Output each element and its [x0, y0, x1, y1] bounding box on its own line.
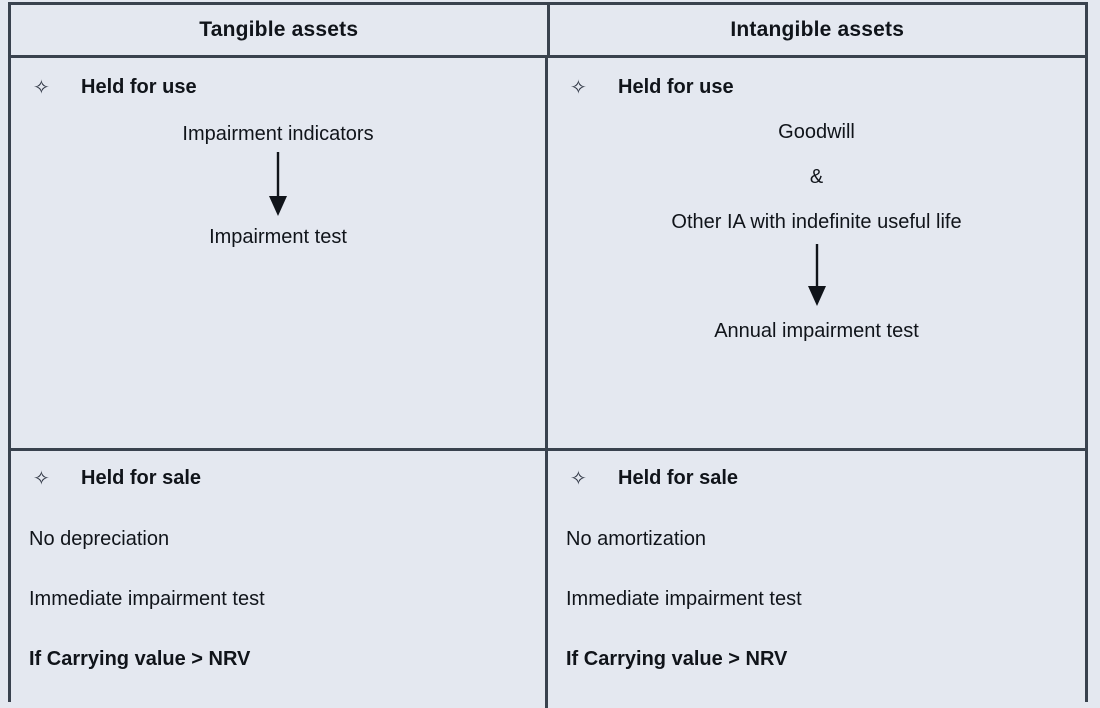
- tangible-impairment-flow: Impairment indicators Impairment test: [11, 99, 545, 249]
- held-for-sale-heading-intangible: ✧ Held for sale: [548, 451, 1085, 490]
- flow-connector-ampersand: &: [548, 166, 1085, 189]
- held-for-sale-label: Held for sale: [81, 467, 201, 490]
- flow-node-goodwill: Goodwill: [548, 121, 1085, 144]
- list-item-no-depreciation: No depreciation: [29, 528, 545, 550]
- list-item-immediate-impairment-test: Immediate impairment test: [29, 588, 545, 610]
- list-item-carrying-value-condition: If Carrying value > NRV: [566, 648, 1085, 670]
- cell-tangible-held-for-use: ✧ Held for use Impairment indicators Imp…: [11, 58, 548, 448]
- down-arrow-icon: [265, 152, 291, 218]
- column-header-intangible-assets: Intangible assets: [550, 5, 1086, 55]
- intangible-impairment-flow: Goodwill & Other IA with indefinite usef…: [548, 99, 1085, 343]
- held-for-use-label: Held for use: [81, 76, 197, 99]
- down-arrow-icon: [804, 244, 830, 308]
- diamond-bullet-icon: ✧: [33, 78, 55, 98]
- held-for-sale-heading-tangible: ✧ Held for sale: [11, 451, 545, 490]
- diamond-bullet-icon: ✧: [570, 469, 592, 489]
- column-header-tangible-assets: Tangible assets: [11, 5, 550, 55]
- cell-intangible-held-for-use: ✧ Held for use Goodwill & Other IA with …: [548, 58, 1085, 448]
- held-for-use-heading-intangible: ✧ Held for use: [548, 58, 1085, 99]
- held-for-sale-row: ✧ Held for sale No depreciation Immediat…: [11, 451, 1085, 708]
- held-for-sale-label: Held for sale: [618, 467, 738, 490]
- assets-impairment-comparison-table: Tangible assets Intangible assets ✧ Held…: [8, 2, 1088, 702]
- flow-node-other-ia-indefinite-life: Other IA with indefinite useful life: [548, 211, 1085, 234]
- cell-tangible-held-for-sale: ✧ Held for sale No depreciation Immediat…: [11, 451, 548, 708]
- diamond-bullet-icon: ✧: [33, 469, 55, 489]
- table-header-row: Tangible assets Intangible assets: [11, 5, 1085, 58]
- held-for-use-row: ✧ Held for use Impairment indicators Imp…: [11, 58, 1085, 451]
- tangible-held-for-sale-list: No depreciation Immediate impairment tes…: [11, 528, 545, 670]
- held-for-use-label: Held for use: [618, 76, 734, 99]
- list-item-carrying-value-condition: If Carrying value > NRV: [29, 648, 545, 670]
- flow-node-impairment-indicators: Impairment indicators: [11, 123, 545, 146]
- held-for-use-heading-tangible: ✧ Held for use: [11, 58, 545, 99]
- cell-intangible-held-for-sale: ✧ Held for sale No amortization Immediat…: [548, 451, 1085, 708]
- list-item-no-amortization: No amortization: [566, 528, 1085, 550]
- intangible-held-for-sale-list: No amortization Immediate impairment tes…: [548, 528, 1085, 670]
- flow-node-impairment-test: Impairment test: [11, 226, 545, 249]
- flow-node-annual-impairment-test: Annual impairment test: [548, 320, 1085, 343]
- list-item-immediate-impairment-test: Immediate impairment test: [566, 588, 1085, 610]
- diamond-bullet-icon: ✧: [570, 78, 592, 98]
